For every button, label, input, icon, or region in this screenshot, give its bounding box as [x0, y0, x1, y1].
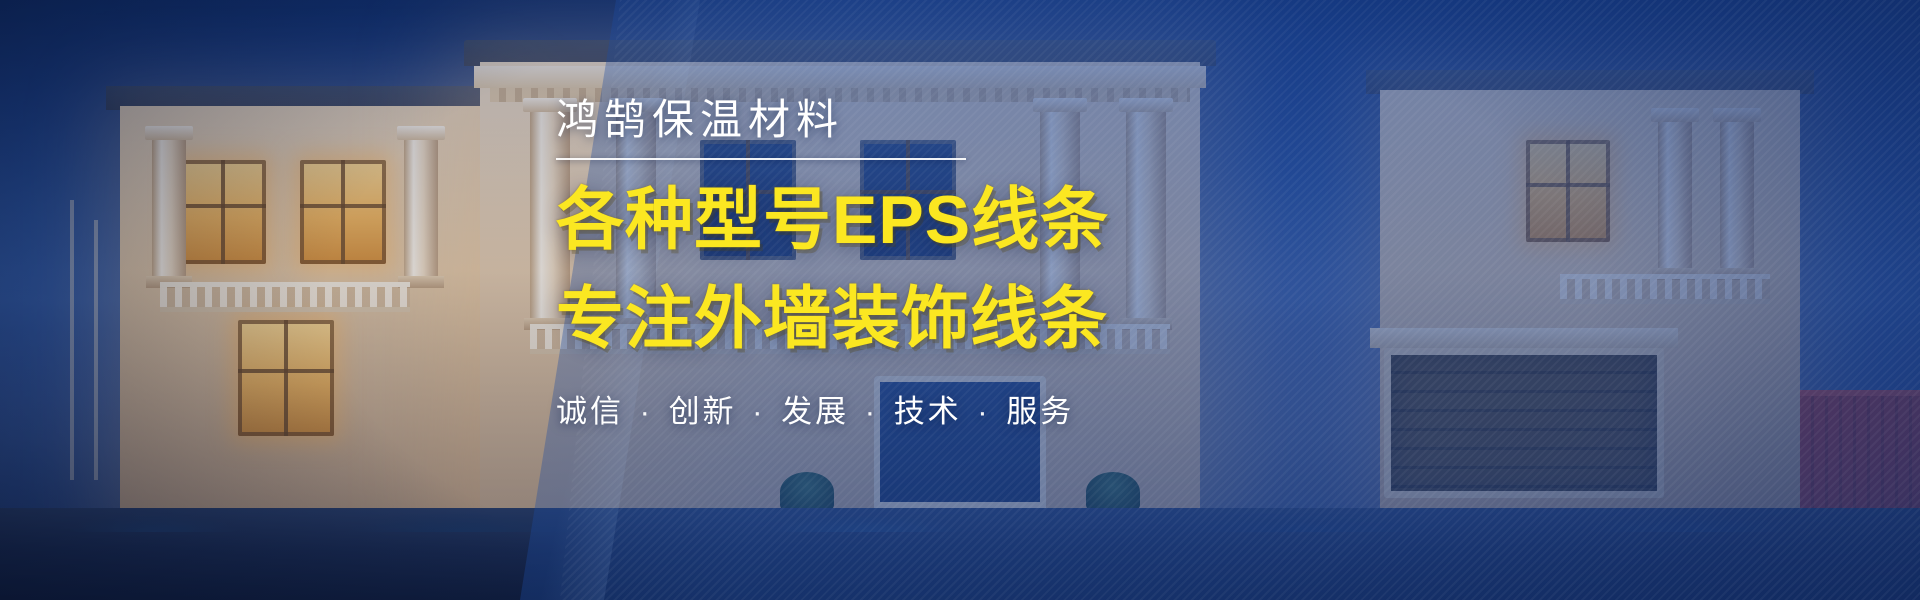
headline-line-2: 专注外墙装饰线条 [556, 281, 1336, 358]
tagline-item: 技术 [894, 394, 962, 429]
tagline-separator: · [849, 394, 894, 429]
tagline-item: 发展 [781, 394, 849, 429]
tagline-item: 服务 [1006, 394, 1074, 429]
tagline: 诚信 · 创新 · 发展 · 技术 · 服务 [556, 386, 1336, 431]
tagline-separator: · [624, 394, 669, 429]
hero-banner: 鸿鹄保温材料 各种型号EPS线条 专注外墙装饰线条 诚信 · 创新 · 发展 ·… [0, 0, 1920, 600]
banner-copy: 鸿鹄保温材料 各种型号EPS线条 专注外墙装饰线条 诚信 · 创新 · 发展 ·… [556, 96, 1336, 431]
brand-name: 鸿鹄保温材料 [556, 96, 1336, 144]
divider-rule [556, 158, 966, 160]
tagline-separator: · [737, 394, 782, 429]
tagline-item: 诚信 [556, 394, 624, 429]
tagline-separator: · [962, 394, 1007, 429]
tagline-item: 创新 [669, 394, 737, 429]
headline-line-1: 各种型号EPS线条 [556, 182, 1336, 259]
